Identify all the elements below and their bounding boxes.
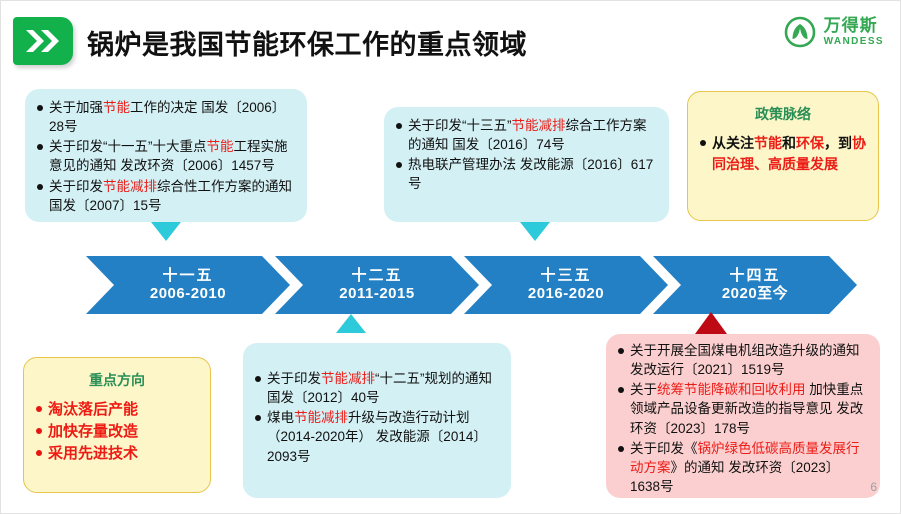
- policy-box-top-left: 关于加强节能工作的决定 国发〔2006〕28号关于印发“十一五”十大重点节能工程…: [25, 89, 307, 222]
- timeline-period-4[interactable]: 十四五 2020至今: [653, 256, 857, 314]
- policy-box-bottom-mid: 关于印发节能减排“十二五”规划的通知 国发〔2012〕40号煤电节能减排升级与改…: [243, 343, 511, 498]
- page-number: 6: [870, 480, 877, 494]
- focus-box-bottom-left: 重点方向 淘汰落后产能加快存量改造采用先进技术: [23, 357, 211, 493]
- list-item: 煤电节能减排升级与改造行动计划（2014-2020年） 发改能源〔2014〕20…: [254, 408, 500, 465]
- focus-list: 淘汰落后产能加快存量改造采用先进技术: [35, 399, 199, 465]
- list-item: 采用先进技术: [35, 443, 199, 464]
- policy-list: 关于加强节能工作的决定 国发〔2006〕28号关于印发“十一五”十大重点节能工程…: [36, 98, 296, 215]
- page-title: 锅炉是我国节能环保工作的重点领域: [87, 23, 527, 62]
- policy-box-top-right: 政策脉络 从关注节能和环保，到协同治理、高质量发展: [687, 91, 879, 221]
- period-name: 十四五: [729, 267, 780, 284]
- connector-triangle-3: [520, 222, 550, 241]
- period-name: 十三五: [540, 267, 591, 284]
- connector-triangle-2: [336, 314, 366, 333]
- policy-list: 关于印发“十三五”节能减排综合工作方案的通知 国发〔2016〕74号热电联产管理…: [395, 116, 658, 194]
- logo-text-cn: 万得斯: [824, 17, 884, 34]
- list-item: 关于印发“十一五”十大重点节能工程实施意见的通知 发改环资〔2006〕1457号: [36, 137, 296, 175]
- list-item: 关于印发节能减排综合性工作方案的通知 国发〔2007〕15号: [36, 177, 296, 215]
- list-item: 关于印发《锅炉绿色低碳高质量发展行动方案》的通知 发改环资〔2023〕1638号: [617, 439, 869, 496]
- timeline-period-1[interactable]: 十一五 2006-2010: [86, 256, 290, 314]
- slide-root: 锅炉是我国节能环保工作的重点领域 万得斯 WANDESS 关于加强节能工作的决定…: [0, 0, 901, 514]
- period-name: 十二五: [351, 267, 402, 284]
- brand-logo: 万得斯 WANDESS: [783, 15, 884, 49]
- wandess-leaf-logo-icon: [783, 15, 817, 49]
- list-item: 加快存量改造: [35, 421, 199, 442]
- timeline-period-2[interactable]: 十二五 2011-2015: [275, 256, 479, 314]
- policy-list: 关于开展全国煤电机组改造升级的通知 发改运行〔2021〕1519号关于统筹节能降…: [617, 341, 869, 496]
- period-years: 2011-2015: [339, 285, 414, 303]
- policy-box-top-mid: 关于印发“十三五”节能减排综合工作方案的通知 国发〔2016〕74号热电联产管理…: [384, 107, 669, 222]
- box-title: 重点方向: [35, 371, 199, 391]
- period-years: 2016-2020: [528, 285, 604, 303]
- timeline-period-3[interactable]: 十三五 2016-2020: [464, 256, 668, 314]
- period-years: 2020至今: [722, 285, 788, 303]
- connector-triangle-4: [695, 312, 727, 334]
- list-item: 从关注节能和环保，到协同治理、高质量发展: [699, 133, 867, 175]
- list-item: 热电联产管理办法 发改能源〔2016〕617号: [395, 155, 658, 193]
- double-chevron-right-icon: [13, 17, 73, 65]
- list-item: 关于加强节能工作的决定 国发〔2006〕28号: [36, 98, 296, 136]
- period-years: 2006-2010: [150, 285, 226, 303]
- box-title: 政策脉络: [699, 105, 867, 125]
- list-item: 关于开展全国煤电机组改造升级的通知 发改运行〔2021〕1519号: [617, 341, 869, 379]
- period-name: 十一五: [162, 267, 213, 284]
- list-item: 关于印发“十三五”节能减排综合工作方案的通知 国发〔2016〕74号: [395, 116, 658, 154]
- policy-box-bottom-right: 关于开展全国煤电机组改造升级的通知 发改运行〔2021〕1519号关于统筹节能降…: [606, 334, 880, 498]
- connector-triangle-1: [151, 222, 181, 241]
- list-item: 关于统筹节能降碳和回收利用 加快重点领域产品设备更新改造的指导意见 发改环资〔2…: [617, 380, 869, 437]
- policy-list: 关于印发节能减排“十二五”规划的通知 国发〔2012〕40号煤电节能减排升级与改…: [254, 369, 500, 466]
- policy-list: 从关注节能和环保，到协同治理、高质量发展: [699, 133, 867, 175]
- logo-text-en: WANDESS: [824, 37, 884, 47]
- list-item: 关于印发节能减排“十二五”规划的通知 国发〔2012〕40号: [254, 369, 500, 407]
- list-item: 淘汰落后产能: [35, 399, 199, 420]
